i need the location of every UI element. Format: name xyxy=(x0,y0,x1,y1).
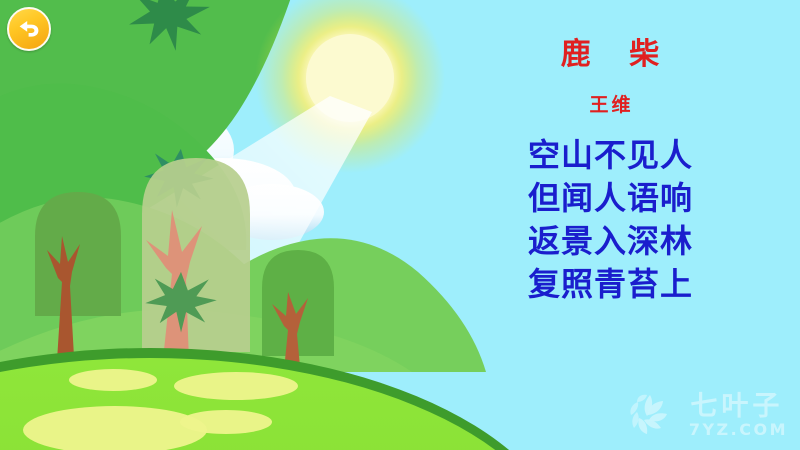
back-button[interactable] xyxy=(7,7,51,51)
scene-illustration xyxy=(0,0,800,450)
back-arrow-icon xyxy=(17,18,41,40)
poem-screen: 鹿 柴 王维 空山不见人 但闻人语响 返景入深林 复照青苔上 xyxy=(0,0,800,450)
